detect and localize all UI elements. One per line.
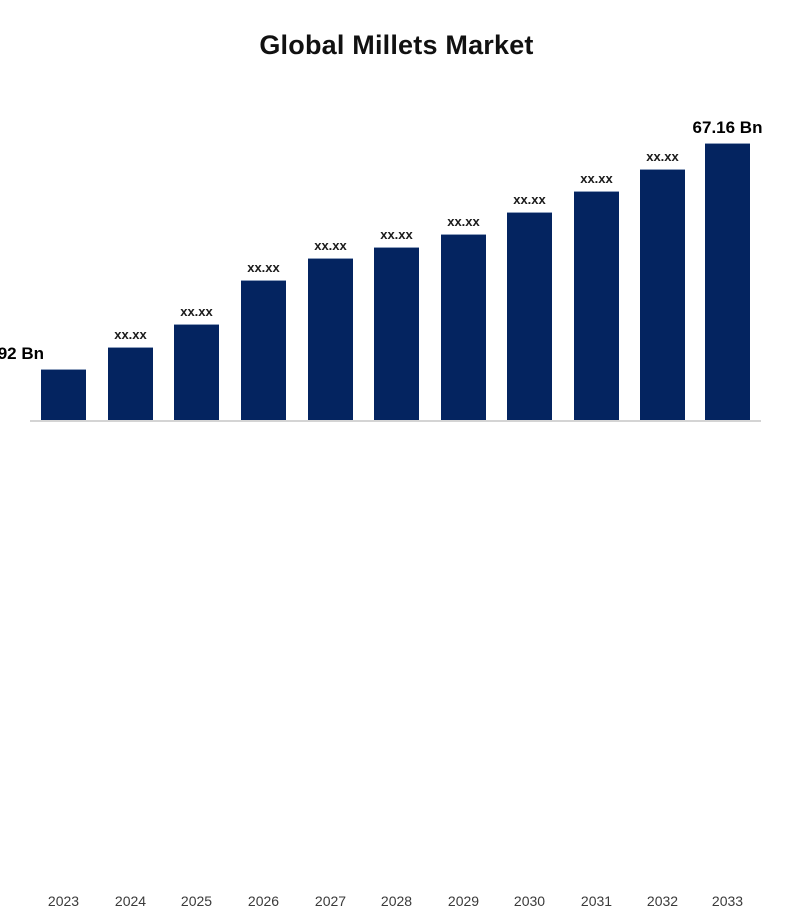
bar[interactable] — [174, 324, 219, 420]
x-axis-tick-label: 2032 — [647, 893, 678, 909]
x-axis-tick-label: 2030 — [514, 893, 545, 909]
bar[interactable] — [507, 212, 552, 420]
bar-value-label: xx.xx — [180, 304, 213, 319]
bar-value-label: xx.xx — [447, 214, 480, 229]
bar-value-label: xx.xx — [380, 227, 413, 242]
x-axis-tick-label: 2028 — [381, 893, 412, 909]
bar-value-label: 67.16 Bn — [693, 118, 763, 138]
bar[interactable] — [241, 280, 286, 420]
bar[interactable] — [705, 143, 750, 420]
x-axis-tick-label: 2025 — [181, 893, 212, 909]
bar-value-label: 36.92 Bn — [0, 344, 44, 364]
bar[interactable] — [108, 347, 153, 420]
bar[interactable] — [374, 247, 419, 420]
x-axis-tick-label: 2033 — [712, 893, 743, 909]
x-axis-tick-label: 2027 — [315, 893, 346, 909]
bar[interactable] — [441, 234, 486, 420]
x-axis-tick-label: 2029 — [448, 893, 479, 909]
bar-value-label: xx.xx — [114, 327, 147, 342]
x-axis-tick-label: 2026 — [248, 893, 279, 909]
bar-value-label: xx.xx — [314, 238, 347, 253]
bar-value-label: xx.xx — [646, 149, 679, 164]
bar-value-label: xx.xx — [580, 171, 613, 186]
chart-container: Global Millets Market 36.92 Bn2023xx.xx2… — [0, 0, 793, 463]
category-axis-line — [30, 420, 761, 422]
bar[interactable] — [41, 369, 86, 420]
bar-value-label: xx.xx — [513, 192, 546, 207]
x-axis-tick-label: 2023 — [48, 893, 79, 909]
x-axis-tick-label: 2024 — [115, 893, 146, 909]
bar[interactable] — [308, 258, 353, 420]
plot-area: 36.92 Bn2023xx.xx2024xx.xx2025xx.xx2026x… — [0, 0, 793, 463]
x-axis-tick-label: 2031 — [581, 893, 612, 909]
bar[interactable] — [640, 169, 685, 420]
bar[interactable] — [574, 191, 619, 420]
bar-value-label: xx.xx — [247, 260, 280, 275]
